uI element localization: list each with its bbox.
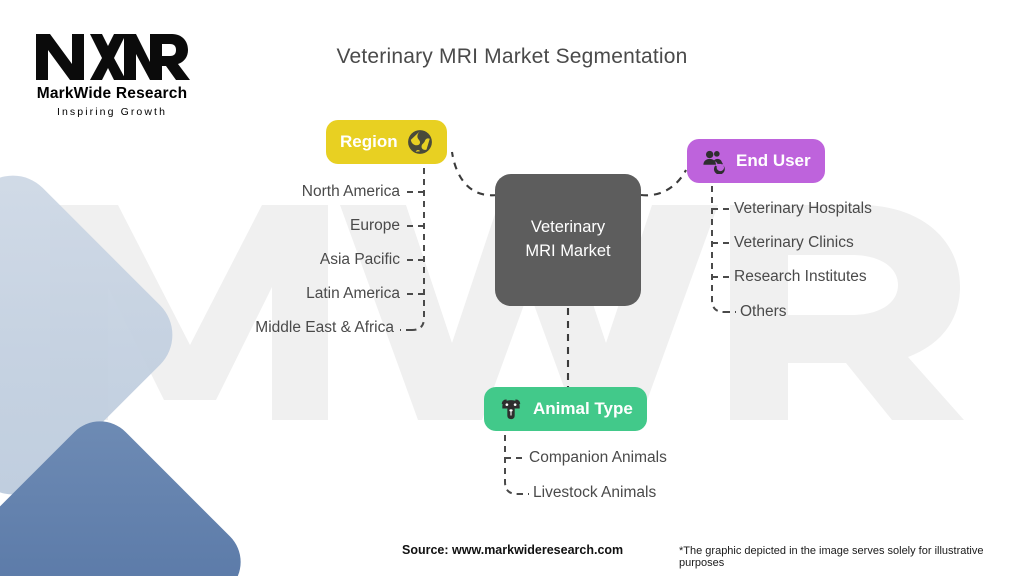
leaf-region-3: Latin America	[306, 285, 400, 303]
spine-animal	[505, 435, 517, 494]
center-node-line2: MRI Market	[525, 240, 610, 264]
leaf-region-0: North America	[302, 183, 400, 201]
disclaimer-note: *The graphic depicted in the image serve…	[679, 545, 1024, 569]
badge-label-animal-type: Animal Type	[533, 399, 633, 419]
users-icon	[701, 148, 727, 174]
decorative-square-dark	[0, 406, 256, 576]
spine-region	[412, 168, 424, 330]
badge-label-end-user: End User	[736, 151, 811, 171]
globe-icon	[407, 129, 433, 155]
leaf-animal-type-1: Livestock Animals	[533, 484, 656, 502]
branch-badge-end-user[interactable]: End User	[687, 139, 825, 183]
logo-tagline: Inspiring Growth	[24, 106, 200, 118]
leaf-end-user-0: Veterinary Hospitals	[734, 200, 872, 218]
logo-company-name: MarkWide Research	[24, 85, 200, 103]
source-label: Source: www.markwideresearch.com	[402, 543, 623, 557]
brand-logo: MarkWide Research Inspiring Growth	[24, 28, 200, 118]
branch-badge-animal-type[interactable]: Animal Type	[484, 387, 647, 431]
leaf-region-1: Europe	[350, 217, 400, 235]
infographic-canvas: MarkWide Research Inspiring Growth Veter…	[0, 0, 1024, 576]
page-title: Veterinary MRI Market Segmentation	[0, 45, 1024, 69]
badge-label-region: Region	[340, 132, 398, 152]
spine-enduser	[712, 186, 724, 312]
connector-center-region	[452, 152, 497, 195]
leaf-region-4: Middle East & Africa	[255, 319, 394, 337]
dog-icon	[498, 396, 524, 422]
connector-center-enduser	[641, 170, 686, 195]
center-node-line1: Veterinary	[531, 216, 605, 240]
branch-badge-region[interactable]: Region	[326, 120, 447, 164]
leaf-region-2: Asia Pacific	[320, 251, 400, 269]
leaf-end-user-3: Others	[740, 303, 787, 321]
decorative-square-light	[0, 158, 190, 512]
leaf-end-user-1: Veterinary Clinics	[734, 234, 854, 252]
leaf-end-user-2: Research Institutes	[734, 268, 867, 286]
center-node: Veterinary MRI Market	[495, 174, 641, 306]
leaf-animal-type-0: Companion Animals	[529, 449, 667, 467]
